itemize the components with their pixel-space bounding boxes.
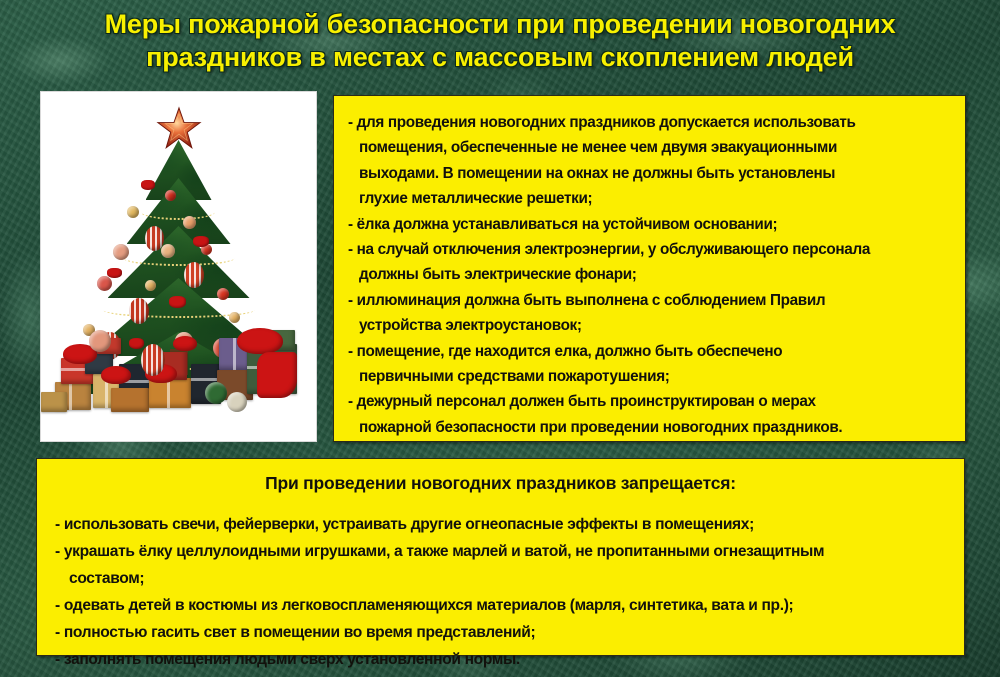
christmas-tree-photo	[40, 91, 317, 442]
requirements-panel: - для проведения новогодних праздников д…	[333, 95, 966, 442]
rule-line: пожарной безопасности при проведении нов…	[348, 415, 949, 440]
ornament-ball	[217, 288, 229, 300]
rule-line: помещения, обеспеченные не менее чем дву…	[348, 135, 949, 160]
rule-line: - для проведения новогодних праздников д…	[348, 110, 949, 135]
ornament-ball	[165, 190, 176, 201]
bow-decoration	[193, 236, 209, 247]
ornament-ball	[97, 276, 112, 291]
prohibition-line: - заполнять помещения людьми сверх устан…	[55, 646, 946, 673]
rule-line: выходами. В помещении на окнах не должны…	[348, 161, 949, 186]
rule-line: - ёлка должна устанавливаться на устойчи…	[348, 212, 949, 237]
ornament-ball	[161, 244, 175, 258]
bow-decoration	[141, 180, 155, 190]
bow-decoration	[129, 338, 144, 349]
rule-line: - помещение, где находится елка, должно …	[348, 339, 949, 364]
ornament-ball	[145, 280, 156, 291]
rule-line: первичными средствами пожаротушения;	[348, 364, 949, 389]
ornament-striped	[184, 262, 204, 288]
prohibition-line: - одевать детей в костюмы из легковоспла…	[55, 592, 946, 619]
ornament-ball	[127, 206, 139, 218]
rule-line: устройства электроустановок;	[348, 313, 949, 338]
prohibitions-panel: При проведении новогодних праздников зап…	[36, 458, 965, 656]
title-line-2: праздников в местах с массовым скопление…	[0, 41, 1000, 74]
bow-decoration	[107, 268, 122, 278]
ornament-striped	[129, 298, 149, 324]
rule-line: глухие металлические решетки;	[348, 186, 949, 211]
prohibition-line: - украшать ёлку целлулоидными игрушками,…	[55, 538, 946, 565]
prohibitions-heading: При проведении новогодних праздников зап…	[55, 471, 946, 495]
rule-line: - на случай отключения электроэнергии, у…	[348, 237, 949, 262]
rule-line: - дежурный персонал должен быть проинстр…	[348, 389, 949, 414]
ornament-ball	[229, 312, 240, 323]
prohibition-line: - использовать свечи, фейерверки, устраи…	[55, 511, 946, 538]
ornament-ball	[113, 244, 129, 260]
fire-safety-poster: Меры пожарной безопасности при проведени…	[0, 0, 1000, 677]
rule-line: - иллюминация должна быть выполнена с со…	[348, 288, 949, 313]
prohibition-line: - полностью гасить свет в помещении во в…	[55, 619, 946, 646]
rule-line: должны быть электрические фонари;	[348, 262, 949, 287]
prohibition-line: составом;	[55, 565, 946, 592]
poster-title: Меры пожарной безопасности при проведени…	[0, 8, 1000, 74]
tree-scene	[41, 92, 316, 441]
ornament-ball	[183, 216, 196, 229]
title-line-1: Меры пожарной безопасности при проведени…	[0, 8, 1000, 41]
bow-decoration	[169, 296, 186, 308]
